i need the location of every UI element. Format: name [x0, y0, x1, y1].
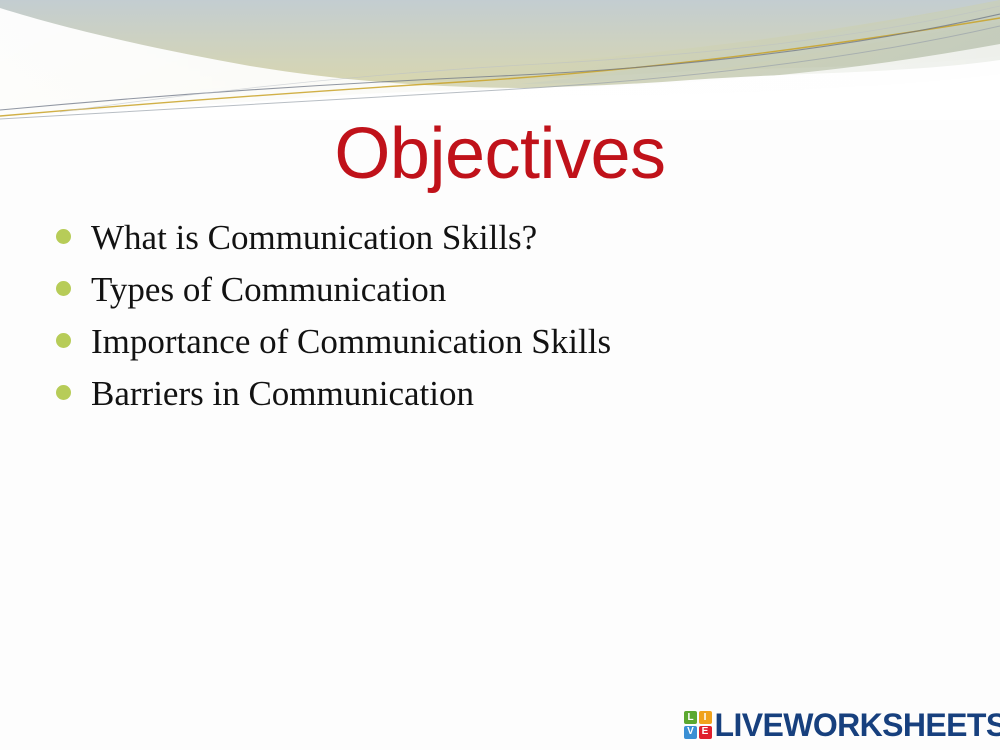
- logo-tile-e: E: [699, 726, 712, 739]
- presentation-slide: Objectives What is Communication Skills?…: [0, 0, 1000, 750]
- bullet-dot-icon: [56, 333, 71, 348]
- list-item: Types of Communication: [56, 268, 936, 320]
- bullet-list: What is Communication Skills? Types of C…: [56, 216, 936, 424]
- bullet-item-label: Types of Communication: [91, 268, 936, 312]
- list-item: What is Communication Skills?: [56, 216, 936, 268]
- bullet-dot-icon: [56, 281, 71, 296]
- list-item: Barriers in Communication: [56, 372, 936, 424]
- flow-theme-wave-band-icon: [0, 0, 1000, 120]
- slide-title: Objectives: [0, 118, 1000, 190]
- liveworksheets-tiles-icon: L I V E: [684, 711, 712, 739]
- bullet-dot-icon: [56, 385, 71, 400]
- bullet-item-label: Barriers in Communication: [91, 372, 936, 416]
- logo-tile-l: L: [684, 711, 697, 724]
- liveworksheets-logo: L I V E LIVEWORKSHEETS: [684, 707, 1000, 743]
- logo-tile-v: V: [684, 726, 697, 739]
- list-item: Importance of Communication Skills: [56, 320, 936, 372]
- bullet-dot-icon: [56, 229, 71, 244]
- liveworksheets-wordmark: LIVEWORKSHEETS: [715, 709, 1000, 741]
- logo-tile-i: I: [699, 711, 712, 724]
- bullet-item-label: What is Communication Skills?: [91, 216, 936, 260]
- bullet-item-label: Importance of Communication Skills: [91, 320, 936, 364]
